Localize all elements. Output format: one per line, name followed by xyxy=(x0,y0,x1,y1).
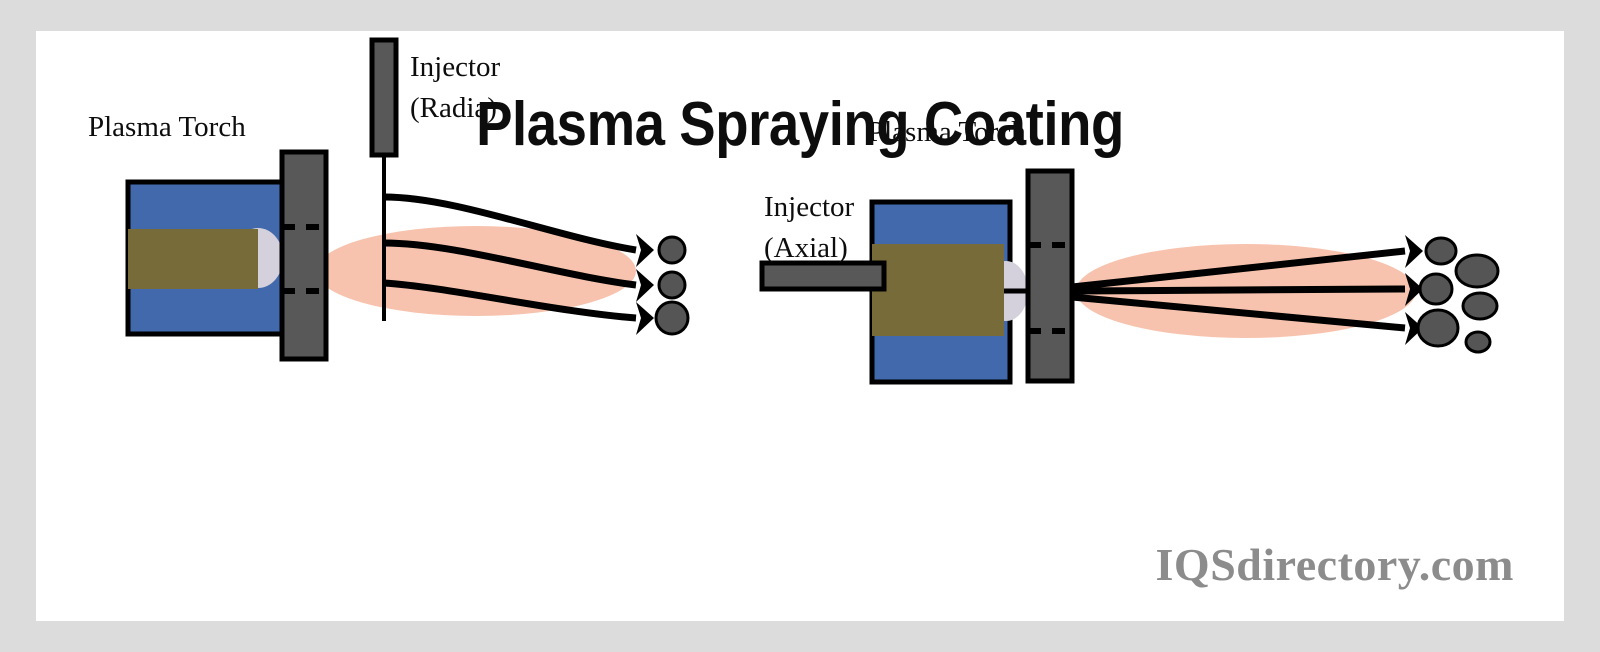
particle xyxy=(1463,293,1497,319)
particle xyxy=(656,302,688,334)
particle xyxy=(1420,274,1452,304)
particle xyxy=(1426,238,1456,264)
injector-label-axial-line2: (Axial) xyxy=(764,232,848,264)
particle xyxy=(1456,255,1498,287)
watermark: IQSdirectory.com xyxy=(1156,538,1514,591)
injector-bar-radial xyxy=(372,40,396,155)
arrowhead-radial-1 xyxy=(636,234,654,267)
injector-label-radial-line2: (Radia) xyxy=(410,92,497,124)
electrode-radial xyxy=(128,229,258,289)
particle xyxy=(1418,310,1458,346)
torch-label-axial: Plasma Torch xyxy=(868,116,1026,148)
torch-label-radial: Plasma Torch xyxy=(88,111,246,143)
nozzle-plate-axial xyxy=(1028,171,1072,381)
nozzle-plate-radial xyxy=(282,152,326,359)
injector-label-radial-line1: Injector xyxy=(410,51,501,83)
electrode-axial xyxy=(872,244,1004,336)
figure-frame: Plasma Spraying Coating xyxy=(0,0,1600,652)
figure-canvas: Plasma Spraying Coating xyxy=(36,31,1564,621)
particle xyxy=(1466,332,1490,352)
arrowhead-radial-3 xyxy=(636,302,654,335)
injector-label-axial-line1: Injector xyxy=(764,191,855,223)
plasma-spray-diagram: Plasma Torch Injector (Radia) xyxy=(36,31,1564,621)
arrowhead-radial-2 xyxy=(636,269,654,302)
arrowhead-axial-1 xyxy=(1405,235,1423,268)
panel-radial: Plasma Torch Injector (Radia) xyxy=(88,40,688,359)
particle-path-axial-2 xyxy=(1072,289,1405,291)
panel-axial: Plasma Torch Injector (Axial) xyxy=(762,116,1498,382)
injector-bar-axial xyxy=(762,263,884,289)
particle xyxy=(659,237,685,263)
particle xyxy=(659,272,685,298)
